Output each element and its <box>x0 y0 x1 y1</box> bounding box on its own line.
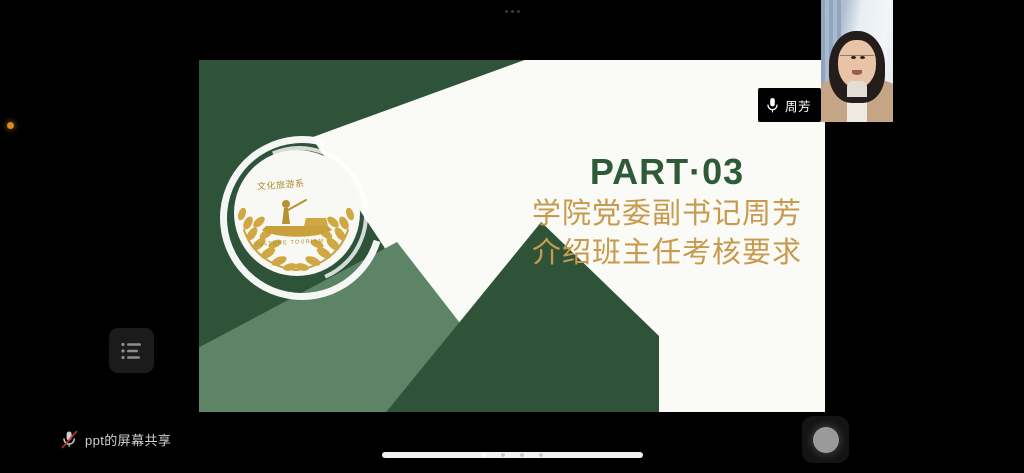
record-button-icon <box>813 427 839 453</box>
list-outline-button[interactable] <box>109 328 154 373</box>
handle-dot <box>511 10 514 13</box>
slide-title-line-2: 介绍班主任考核要求 <box>517 234 817 273</box>
list-outline-icon <box>121 341 143 361</box>
screen-share-label: ppt的屏幕共享 <box>85 430 171 449</box>
video-feed <box>821 0 893 122</box>
participant-name-plate: 周芳 <box>758 88 821 122</box>
page-dot[interactable] <box>482 453 486 457</box>
participant-name: 周芳 <box>785 96 811 115</box>
video-person-neck <box>847 81 867 97</box>
slide-part-label: PART·03 <box>517 153 817 191</box>
laurel-wreath-boat-emblem: 文化旅游系 CULTURE TOURISM <box>214 122 379 322</box>
page-indicator[interactable] <box>382 452 643 458</box>
status-indicator-dot <box>7 122 14 129</box>
meeting-screen-share-view: 文化旅游系 CULTURE TOURISM PART·03 学院党委副书记周芳 … <box>0 0 1024 473</box>
page-dot[interactable] <box>539 453 543 457</box>
slide-canvas: 文化旅游系 CULTURE TOURISM PART·03 学院党委副书记周芳 … <box>199 60 825 412</box>
emblem-boat-figure-icon <box>262 200 332 237</box>
screen-share-status[interactable]: ppt的屏幕共享 <box>61 430 171 449</box>
video-person-eye-left <box>851 56 856 59</box>
page-dot[interactable] <box>501 453 505 457</box>
page-dot[interactable] <box>520 453 524 457</box>
microphone-icon <box>766 97 779 114</box>
video-person-glasses <box>840 55 874 66</box>
participant-video-tile[interactable] <box>821 0 893 122</box>
handle-dot <box>505 10 508 13</box>
bottom-bar: ppt的屏幕共享 <box>0 412 1024 473</box>
video-person-mouth <box>852 70 862 75</box>
record-button[interactable] <box>802 416 849 463</box>
handle-dot <box>517 10 520 13</box>
slide-text-block: PART·03 学院党委副书记周芳 介绍班主任考核要求 <box>517 153 817 273</box>
shared-slide[interactable]: 文化旅游系 CULTURE TOURISM PART·03 学院党委副书记周芳 … <box>199 60 825 412</box>
emblem-artwork-icon <box>214 122 379 322</box>
microphone-muted-icon <box>61 430 78 449</box>
slide-title-line-1: 学院党委副书记周芳 <box>517 195 817 234</box>
